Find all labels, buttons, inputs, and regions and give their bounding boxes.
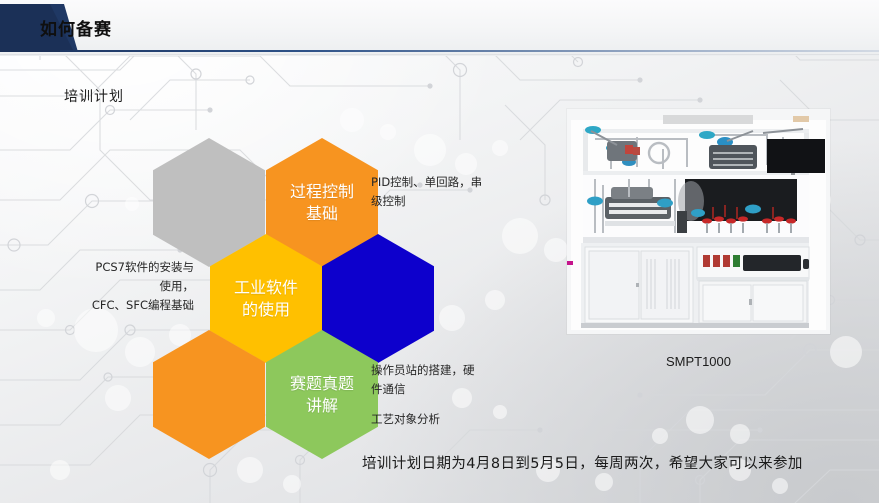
annotation-left: PCS7软件的安装与 使用， CFC、SFC编程基础 [62, 258, 194, 315]
annotation-left-line3: CFC、SFC编程基础 [62, 296, 194, 315]
photo-caption: SMPT1000 [567, 354, 830, 369]
hexagon-orange-top-label: 过程控制基础 [283, 181, 361, 223]
annotation-right-bottom-line1: 操作员站的搭建，硬 [371, 361, 499, 380]
slide-canvas: 如何备赛 培训计划 过程控制基础 工业软件的使用 赛题真题讲解 PCS7软件的安… [0, 0, 879, 503]
annotation-right-bottom-line2: 件通信 [371, 380, 499, 399]
header-underline [60, 50, 879, 52]
smpt1000-photo-graphic [567, 109, 830, 334]
section-label-training-plan: 培训计划 [64, 86, 124, 106]
hexagon-green-label: 赛题真题讲解 [283, 373, 361, 415]
annotation-right-top: PID控制、单回路，串 级控制 [371, 173, 493, 211]
smpt1000-photo [567, 109, 830, 334]
annotation-left-line2: 使用， [62, 277, 194, 296]
annotation-right-bottom-line3: 工艺对象分析 [371, 410, 499, 429]
slide-header: 如何备赛 [0, 0, 879, 56]
page-title: 如何备赛 [40, 15, 112, 40]
annotation-right-bottom: 操作员站的搭建，硬 件通信 工艺对象分析 [371, 361, 499, 429]
annotation-left-line1: PCS7软件的安装与 [62, 258, 194, 277]
hexagon-yellow-label: 工业软件的使用 [227, 277, 305, 319]
bottom-caption: 培训计划日期为4月8日到5月5日，每周两次，希望大家可以来参加 [362, 452, 803, 473]
annotation-right-top-line2: 级控制 [371, 192, 493, 211]
header-bottom-edge [0, 54, 879, 55]
annotation-right-top-line1: PID控制、单回路，串 [371, 173, 493, 192]
